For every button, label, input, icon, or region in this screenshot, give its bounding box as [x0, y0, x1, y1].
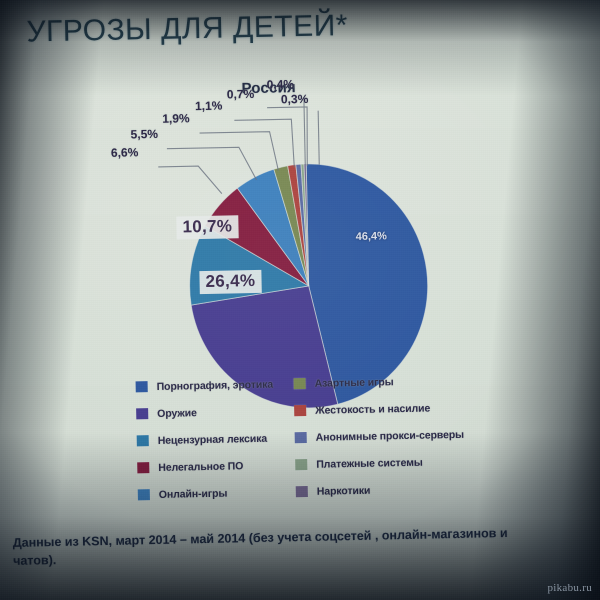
legend-swatch-icon: [295, 459, 307, 470]
legend-item: Онлайн-игры: [138, 486, 296, 501]
legend-item-label: Анонимные прокси-серверы: [316, 428, 464, 443]
legend-swatch-icon: [296, 486, 308, 497]
legend-item-label: Онлайн-игры: [159, 487, 228, 500]
legend-item: Наркотики: [296, 482, 496, 498]
pie-label-46-4: 46,4%: [356, 230, 387, 243]
legend-item: Платежные системы: [295, 455, 495, 471]
leader-line-5-5: [167, 147, 257, 182]
pie-label-0-7: 0,7%: [227, 87, 255, 102]
pie-label-0-4: 0,4%: [266, 77, 294, 92]
legend-item-label: Нелегальное ПО: [158, 460, 243, 474]
legend-item-label: Азартные игры: [315, 376, 394, 390]
pie-label-0-3: 0,3%: [281, 92, 309, 107]
legend-item: Нецензурная лексика: [137, 432, 295, 447]
legend-swatch-icon: [295, 432, 307, 443]
slide-content: УГРОЗЫ ДЛЯ ДЕТЕЙ* Россия 6,6%: [0, 0, 600, 600]
pie-label-5-5: 5,5%: [130, 127, 158, 142]
legend-swatch-icon: [138, 489, 150, 500]
chart-legend: Порнография, эротикаАзартные игрыОружиеЖ…: [135, 366, 498, 508]
legend-swatch-icon: [137, 435, 149, 446]
legend-item-label: Жестокость и насилие: [315, 402, 430, 416]
leader-line-0-3: [318, 111, 319, 165]
watermark: pikabu.ru: [547, 582, 592, 594]
legend-swatch-icon: [136, 408, 148, 419]
legend-item-label: Оружие: [157, 407, 197, 420]
legend-item-label: Порнография, эротика: [157, 378, 274, 392]
legend-item: Анонимные прокси-серверы: [295, 428, 495, 444]
legend-item: Порнография, эротика: [136, 378, 294, 393]
leader-line-1-9: [200, 131, 279, 172]
pie-chart-svg: [0, 0, 600, 600]
legend-item: Нелегальное ПО: [137, 459, 295, 474]
legend-item: Жестокость и насилие: [294, 401, 494, 417]
leader-line-0-7: [267, 107, 308, 167]
leader-line-1-1: [234, 119, 294, 168]
pie-label-1-9: 1,9%: [162, 111, 190, 126]
projection-slide: УГРОЗЫ ДЛЯ ДЕТЕЙ* Россия 6,6%: [0, 0, 600, 600]
legend-item-label: Платежные системы: [316, 456, 423, 470]
legend-item: Оружие: [136, 405, 294, 420]
pie-label-10-7: 10,7%: [176, 215, 238, 239]
photo-of-projected-slide: УГРОЗЫ ДЛЯ ДЕТЕЙ* Россия 6,6%: [0, 0, 600, 600]
legend-swatch-icon: [294, 405, 306, 416]
legend-item: Азартные игры: [294, 374, 494, 390]
leader-line-6-6: [158, 166, 222, 195]
pie-chart: 6,6% 5,5% 1,9% 1,1% 0,7% 0,4% 0,3% 10,7%…: [0, 0, 600, 600]
legend-swatch-icon: [136, 381, 148, 392]
pie-label-26-4: 26,4%: [199, 270, 261, 294]
legend-item-label: Наркотики: [317, 484, 371, 497]
pie-label-1-1: 1,1%: [195, 99, 223, 114]
legend-item-label: Нецензурная лексика: [158, 432, 268, 446]
legend-swatch-icon: [294, 378, 306, 389]
legend-swatch-icon: [137, 462, 149, 473]
pie-label-6-6: 6,6%: [111, 145, 139, 160]
